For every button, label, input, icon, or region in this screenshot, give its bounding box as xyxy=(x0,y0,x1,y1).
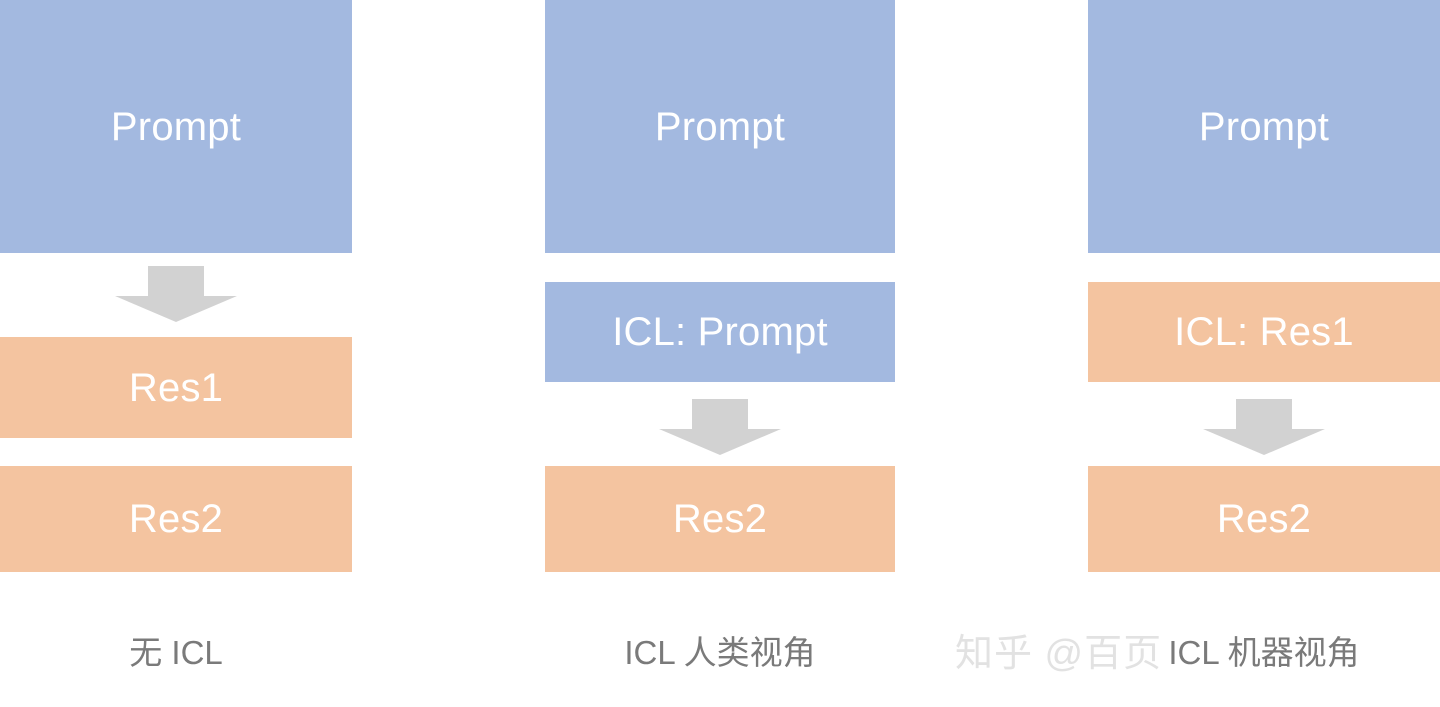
column-icl-human-view: Prompt ICL: Prompt Res2 ICL 人类视角 xyxy=(545,0,895,707)
box-prompt-col3: Prompt xyxy=(1088,0,1440,253)
box-label: Prompt xyxy=(655,107,785,147)
box-label: Res1 xyxy=(129,368,223,408)
box-label: Res2 xyxy=(129,499,223,539)
column-no-icl: Prompt Res1 Res2 无 ICL xyxy=(0,0,352,707)
box-label: Prompt xyxy=(111,107,241,147)
caption-no-icl: 无 ICL xyxy=(0,636,352,669)
box-res2-col2: Res2 xyxy=(545,466,895,572)
box-res2-col1: Res2 xyxy=(0,466,352,572)
box-icl-res1-col3: ICL: Res1 xyxy=(1088,282,1440,382)
diagram-canvas: Prompt Res1 Res2 无 ICL Prompt ICL: Promp… xyxy=(0,0,1440,707)
caption-icl-human-view: ICL 人类视角 xyxy=(545,636,895,669)
box-icl-prompt-col2: ICL: Prompt xyxy=(545,282,895,382)
caption-icl-machine-view: ICL 机器视角 xyxy=(1088,636,1440,669)
box-label: Prompt xyxy=(1199,107,1329,147)
box-res1-col1: Res1 xyxy=(0,337,352,438)
box-label: Res2 xyxy=(673,499,767,539)
column-icl-machine-view: Prompt ICL: Res1 Res2 ICL 机器视角 xyxy=(1088,0,1440,707)
arrow-down-icon xyxy=(1203,399,1325,455)
box-res2-col3: Res2 xyxy=(1088,466,1440,572)
box-label: ICL: Res1 xyxy=(1174,312,1354,352)
arrow-down-icon xyxy=(659,399,781,455)
arrow-down-icon xyxy=(115,266,237,322)
box-label: Res2 xyxy=(1217,499,1311,539)
box-prompt-col2: Prompt xyxy=(545,0,895,253)
box-label: ICL: Prompt xyxy=(612,312,828,352)
box-prompt-col1: Prompt xyxy=(0,0,352,253)
